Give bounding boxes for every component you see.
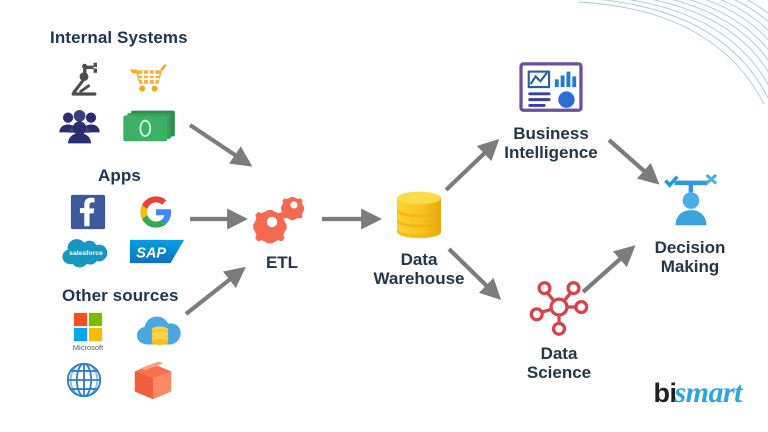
shopping-cart-icon: [124, 57, 168, 101]
gears-icon: [246, 185, 318, 247]
apps-icons-row-1: [66, 190, 178, 234]
node-label-decision-making: Decision Making: [655, 238, 726, 276]
node-label-data-science: Data Science: [527, 344, 591, 382]
microsoft-icon: Microsoft: [66, 310, 110, 354]
node-data-science: Data Science: [484, 276, 634, 382]
money-cash-icon: [120, 103, 182, 147]
globe-internet-icon: [62, 358, 106, 402]
group-title-apps: Apps: [98, 166, 141, 186]
network-nodes-icon: [524, 276, 594, 338]
internal-systems-icons-row-2: [58, 103, 182, 147]
google-icon: [134, 190, 178, 234]
node-label-data-warehouse: Data Warehouse: [373, 250, 464, 288]
person-decision-icon: [651, 170, 729, 232]
users-group-icon: [58, 103, 102, 147]
salesforce-wordmark: salesforce: [69, 250, 103, 257]
microsoft-label: Microsoft: [73, 343, 103, 352]
salesforce-icon: salesforce: [58, 230, 114, 274]
arrow-other-to-etl: [186, 273, 238, 314]
other-sources-icons-row-1: Microsoft: [66, 310, 186, 354]
node-business-intelligence: Business Intelligence: [476, 56, 626, 162]
node-etl: ETL: [207, 185, 357, 272]
node-label-business-intelligence: Business Intelligence: [504, 124, 598, 162]
diagram-canvas: Internal Systems: [0, 0, 768, 432]
apps-icons-row-2: salesforce SAP: [58, 230, 186, 274]
database-cylinder-icon: [388, 182, 450, 244]
group-title-internal-systems: Internal Systems: [50, 28, 188, 48]
robot-arm-icon: [62, 57, 106, 101]
sap-wordmark: SAP: [136, 245, 166, 261]
group-title-other-sources: Other sources: [62, 286, 179, 306]
bismart-logo: bi smart: [653, 376, 742, 410]
other-sources-icons-row-2: [62, 358, 178, 402]
internal-systems-icons-row-1: [62, 57, 168, 101]
node-data-warehouse: Data Warehouse: [344, 182, 494, 288]
arrow-internal-to-etl: [190, 125, 244, 161]
cloud-database-icon: [134, 310, 186, 354]
facebook-icon: [66, 190, 110, 234]
node-decision-making: Decision Making: [615, 170, 765, 276]
node-label-etl: ETL: [266, 253, 298, 272]
sap-icon: SAP: [128, 230, 186, 274]
logo-text-smart: smart: [674, 376, 742, 410]
dashboard-chart-icon: [512, 56, 590, 118]
package-box-icon: [128, 358, 178, 402]
